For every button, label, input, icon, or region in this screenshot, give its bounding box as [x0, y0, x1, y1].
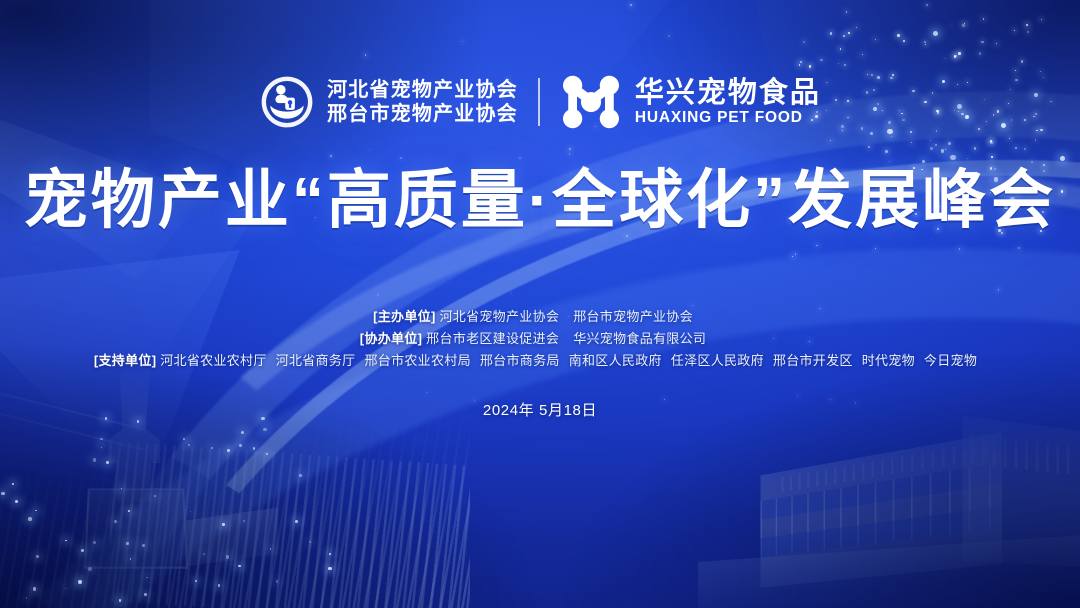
association-logo: 河北省宠物产业协会 邢台市宠物产业协会: [259, 74, 518, 130]
credit-org: 华兴宠物食品有限公司: [573, 331, 706, 346]
credit-line: [协办单位] 邢台市老区建设促进会华兴宠物食品有限公司: [360, 332, 720, 347]
brand-name-cn: 华兴宠物食品: [635, 79, 821, 108]
credit-tag: [支持单位]: [94, 353, 160, 368]
credit-org: 邢台市宠物产业协会: [573, 309, 693, 324]
credit-org: 今日宠物: [924, 353, 977, 368]
poster-headline: 宠物产业“高质量·全球化”发展峰会: [24, 168, 1056, 232]
credit-line: [主办单位] 河北省宠物产业协会邢台市宠物产业协会: [373, 310, 707, 325]
credit-org: 河北省商务厅: [276, 353, 356, 368]
poster-content: 河北省宠物产业协会 邢台市宠物产业协会: [0, 0, 1080, 608]
credits-block: [主办单位] 河北省宠物产业协会邢台市宠物产业协会[协办单位] 邢台市老区建设促…: [94, 310, 986, 369]
credit-org: 南和区人民政府: [569, 353, 662, 368]
credit-org: 任泽区人民政府: [671, 353, 764, 368]
poster-canvas: 河北省宠物产业协会 邢台市宠物产业协会: [0, 0, 1080, 608]
event-date: 2024年 5月18日: [483, 399, 597, 420]
credit-tag: [主办单位]: [373, 309, 439, 324]
credit-org: 河北省宠物产业协会: [439, 309, 559, 324]
huaxing-molecule-logo-icon: [560, 74, 622, 130]
logo-divider: [538, 78, 540, 126]
brand-name-en: HUAXING PET FOOD: [635, 110, 821, 126]
association-name-1: 河北省宠物产业协会: [327, 80, 518, 100]
logo-lockup: 河北省宠物产业协会 邢台市宠物产业协会: [259, 74, 821, 130]
credit-org: 时代宠物: [862, 353, 915, 368]
credit-org: 河北省农业农村厅: [160, 353, 266, 368]
credit-org: 邢台市老区建设促进会: [426, 331, 559, 346]
credit-line: [支持单位] 河北省农业农村厅河北省商务厅邢台市农业农村局邢台市商务局南和区人民…: [94, 354, 986, 369]
credit-org: 邢台市商务局: [480, 353, 560, 368]
credit-tag: [协办单位]: [360, 331, 426, 346]
association-name-2: 邢台市宠物产业协会: [327, 104, 518, 124]
association-names: 河北省宠物产业协会 邢台市宠物产业协会: [327, 80, 518, 124]
brand-logo: 华兴宠物食品 HUAXING PET FOOD: [560, 74, 821, 130]
pet-association-emblem-icon: [259, 74, 315, 130]
brand-text: 华兴宠物食品 HUAXING PET FOOD: [635, 79, 821, 126]
credit-org: 邢台市开发区: [773, 353, 853, 368]
credit-org: 邢台市农业农村局: [364, 353, 470, 368]
